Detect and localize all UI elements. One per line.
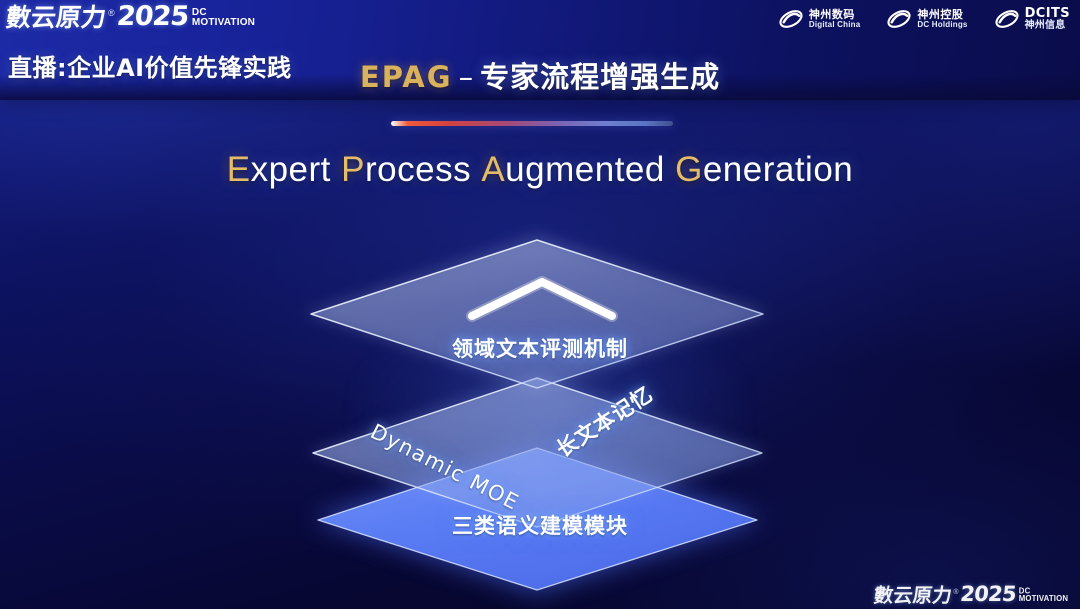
event-logo-dc-motivation: DC MOTIVATION xyxy=(192,8,255,28)
swirl-icon xyxy=(886,6,912,32)
corp-name-en: DC Holdings xyxy=(917,21,967,29)
title-dash: – xyxy=(453,60,481,94)
subtitle-cap-e: E xyxy=(227,150,251,189)
watermark-dc-motivation: DC MOTIVATION xyxy=(1019,588,1068,604)
event-logo-year: 2025 xyxy=(115,3,189,30)
subtitle-rest-augmented: ugmented xyxy=(505,150,665,189)
event-logo-registered: ® xyxy=(108,9,115,18)
page-title: EPAG–专家流程增强生成 xyxy=(0,54,1080,96)
event-logo-cn: 數云原力 xyxy=(5,5,108,30)
chevron-up-icon xyxy=(462,272,622,324)
subtitle-rest-expert: xpert xyxy=(251,150,331,189)
corporate-logo-dcits: DCITS 神州信息 xyxy=(994,6,1070,32)
page-subtitle: Expert Process Augmented Generation xyxy=(0,150,1080,190)
corporate-logo-row: 神州数码 Digital China 神州控股 DC Holdings xyxy=(778,6,1070,32)
subtitle-cap-p: P xyxy=(341,150,365,189)
watermark-motivation: MOTIVATION xyxy=(1019,596,1068,604)
swirl-icon xyxy=(994,6,1020,32)
watermark-logo: 數云原力 ® 2025 DC MOTIVATION xyxy=(874,584,1068,605)
corporate-logo-dc-holdings: 神州控股 DC Holdings xyxy=(886,6,967,32)
subtitle-cap-g: G xyxy=(675,150,703,189)
watermark-year: 2025 xyxy=(959,584,1017,605)
corporate-logo-digital-china: 神州数码 Digital China xyxy=(778,6,861,32)
corp-name-cn: 神州控股 xyxy=(917,9,967,21)
title-divider-rule xyxy=(391,121,673,126)
corp-name-cn: 神州信息 xyxy=(1025,21,1070,32)
subtitle-rest-generation: eneration xyxy=(703,150,853,189)
title-acronym: EPAG xyxy=(360,60,453,94)
layer-label-top: 领域文本评测机制 xyxy=(0,333,1080,363)
layer-label-bottom: 三类语义建模模块 xyxy=(0,510,1080,540)
watermark-registered: ® xyxy=(953,589,958,596)
event-logo: 數云原力 ® 2025 DC MOTIVATION xyxy=(6,3,255,30)
corp-name-en: Digital China xyxy=(809,21,861,29)
title-chinese: 专家流程增强生成 xyxy=(480,60,720,94)
subtitle-cap-a: A xyxy=(481,150,505,189)
slide-canvas: 數云原力 ® 2025 DC MOTIVATION 直播:企业AI价值先锋实践 … xyxy=(0,0,1080,609)
event-logo-motivation: MOTIVATION xyxy=(192,18,255,28)
subtitle-rest-process: rocess xyxy=(365,150,471,189)
corp-name-en: DCITS xyxy=(1025,7,1070,21)
corp-name-cn: 神州数码 xyxy=(809,9,861,21)
swirl-icon xyxy=(778,6,804,32)
watermark-cn: 數云原力 xyxy=(873,586,953,606)
